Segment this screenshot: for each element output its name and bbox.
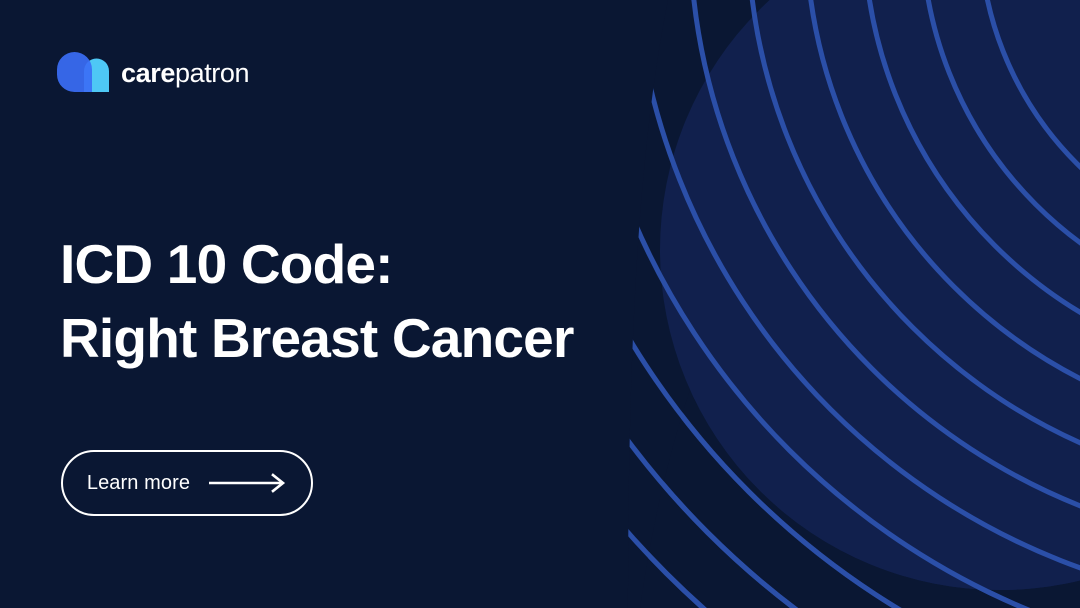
brand-wordmark: carepatron <box>121 60 249 87</box>
page-title: ICD 10 Code: Right Breast Cancer <box>60 232 574 371</box>
marketing-banner: carepatron ICD 10 Code: Right Breast Can… <box>0 0 1080 608</box>
brand-logo[interactable]: carepatron <box>57 52 249 94</box>
learn-more-button[interactable]: Learn more <box>61 450 313 516</box>
arc-mask-helper <box>620 0 1080 608</box>
brand-wordmark-regular: patron <box>175 60 249 87</box>
carepatron-logo-mark <box>57 52 109 94</box>
arrow-right-icon <box>209 473 287 493</box>
brand-wordmark-bold: care <box>121 60 175 87</box>
decorative-circle <box>660 0 1080 590</box>
learn-more-button-label: Learn more <box>87 472 190 495</box>
page-title-line-1: ICD 10 Code: <box>60 232 574 296</box>
page-title-line-2: Right Breast Cancer <box>60 306 574 370</box>
decorative-circle-overlay <box>660 0 1080 590</box>
